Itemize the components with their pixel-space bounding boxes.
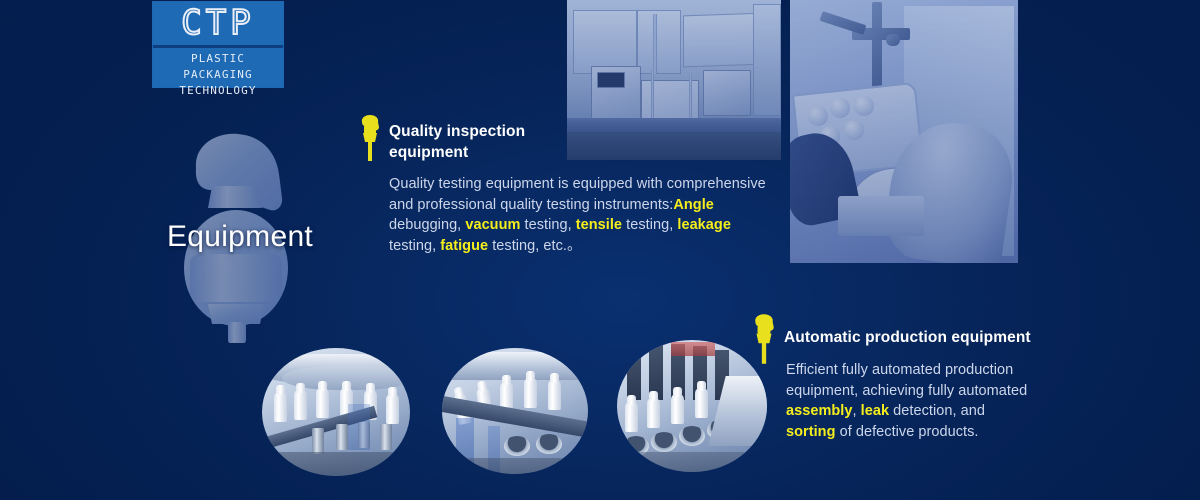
highlighted-term: Angle — [673, 197, 714, 213]
ctp-logo: CTP PLASTIC PACKAGING TECHNOLOGY — [153, 2, 283, 87]
body-text-run: testing, — [389, 238, 440, 254]
body-text-run: testing, — [520, 217, 575, 233]
highlighted-term: leak — [861, 403, 889, 419]
section-body-automatic-production: Efficient fully automated production equ… — [786, 360, 1036, 442]
logo-tagline-line2: TECHNOLOGY — [153, 83, 283, 99]
body-text-run: of defective products. — [836, 424, 979, 440]
body-text-run: testing, — [622, 217, 677, 233]
heading-line-2: equipment — [389, 144, 468, 161]
logo-mark: CTP — [153, 2, 283, 48]
body-text-run: , — [853, 403, 861, 419]
highlighted-term: assembly — [786, 403, 853, 419]
logo-ctp-text: CTP — [153, 3, 283, 44]
highlighted-term: vacuum — [465, 217, 520, 233]
heading-line-1: Quality inspection — [389, 123, 525, 140]
photo-assembly-line-2 — [442, 348, 588, 474]
photo-assembly-line-3 — [617, 340, 767, 472]
hero-block: Equipment — [150, 128, 330, 343]
body-text-run: testing, etc.。 — [488, 238, 581, 254]
page-title: Equipment — [149, 220, 331, 254]
body-text-run: detection, and — [889, 403, 985, 419]
equipment-banner: CTP PLASTIC PACKAGING TECHNOLOGY — [0, 0, 1200, 500]
highlighted-term: fatigue — [440, 238, 488, 254]
body-text-run: debugging, — [389, 217, 465, 233]
body-text-run: Efficient fully automated production equ… — [786, 362, 1027, 399]
logo-tagline: PLASTIC PACKAGING TECHNOLOGY — [153, 48, 283, 87]
pump-dispenser-icon — [357, 114, 383, 162]
photo-angle-test — [790, 0, 1018, 263]
highlighted-term: sorting — [786, 424, 836, 440]
highlighted-term: leakage — [677, 217, 731, 233]
pump-dispenser-icon — [750, 313, 778, 365]
highlighted-term: tensile — [576, 217, 622, 233]
section-heading-quality-inspection: Quality inspection equipment — [389, 121, 619, 163]
photo-assembly-line-1 — [262, 348, 410, 476]
section-body-quality-inspection: Quality testing equipment is equipped wi… — [389, 174, 769, 256]
logo-tagline-line1: PLASTIC PACKAGING — [153, 51, 283, 83]
section-heading-automatic-production: Automatic production equipment — [784, 327, 1084, 348]
